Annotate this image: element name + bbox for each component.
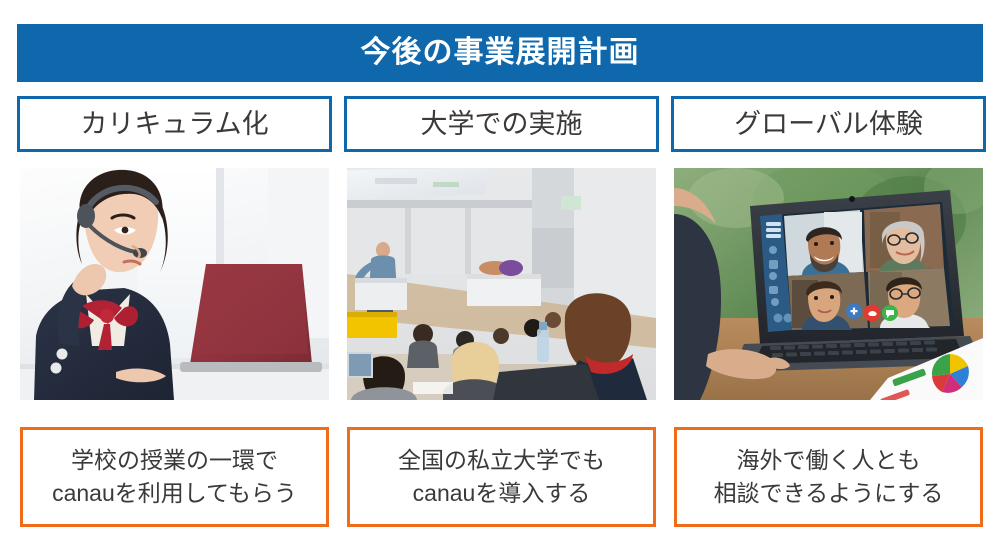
photo-laptop-video-conference-call — [674, 168, 983, 400]
video-call-illustration — [674, 168, 983, 400]
column-global: グローバル体験 — [671, 96, 986, 546]
lecture-hall-illustration — [347, 168, 656, 400]
caption-box-1: 学校の授業の一環で canauを利用してもらう — [20, 427, 329, 527]
column-header-label-2: 大学での実施 — [421, 111, 583, 138]
caption-box-2: 全国の私立大学でも canauを導入する — [347, 427, 656, 527]
caption-line-3-1: 海外で働く人とも — [737, 444, 921, 477]
photo-student-with-headset-at-laptop — [20, 168, 329, 400]
slide-title-banner: 今後の事業展開計画 — [17, 24, 983, 82]
columns-container: カリキュラム化 — [17, 96, 986, 546]
page-title: 今後の事業展開計画 — [361, 38, 640, 68]
student-headset-illustration — [20, 168, 329, 400]
photo-university-lecture-hall — [347, 168, 656, 400]
caption-line-2-2: canauを導入する — [413, 477, 591, 510]
slide-canvas: 今後の事業展開計画 カリキュラム化 — [0, 0, 1000, 560]
column-header-box-1: カリキュラム化 — [17, 96, 332, 152]
caption-line-1-2: canauを利用してもらう — [52, 477, 297, 510]
caption-line-3-2: 相談できるようにする — [714, 477, 944, 510]
column-university: 大学での実施 — [344, 96, 659, 546]
column-header-box-2: 大学での実施 — [344, 96, 659, 152]
column-header-label-1: カリキュラム化 — [80, 111, 268, 138]
column-header-box-3: グローバル体験 — [671, 96, 986, 152]
caption-line-1-1: 学校の授業の一環で — [71, 444, 278, 477]
column-header-label-3: グローバル体験 — [734, 111, 923, 138]
caption-box-3: 海外で働く人とも 相談できるようにする — [674, 427, 983, 527]
caption-line-2-1: 全国の私立大学でも — [398, 444, 605, 477]
column-curriculum: カリキュラム化 — [17, 96, 332, 546]
